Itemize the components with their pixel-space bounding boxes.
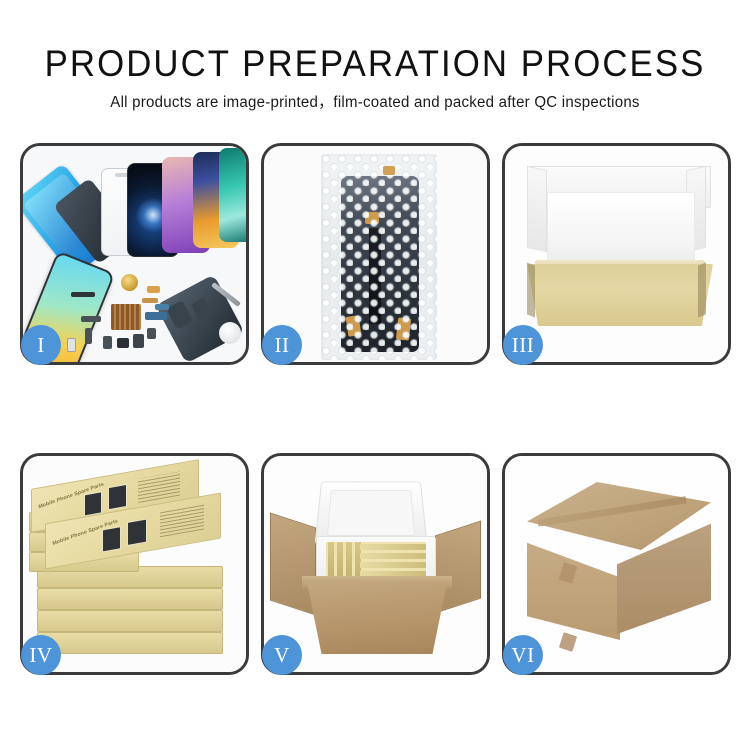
step-badge-5: V: [262, 635, 302, 675]
box-side-3: [37, 588, 223, 610]
part-vibrator: [133, 334, 144, 348]
process-step-5[interactable]: V: [261, 453, 490, 675]
bubble-texture: [321, 154, 437, 360]
chip-array: [111, 304, 141, 330]
yellow-box-h-1: [360, 544, 426, 550]
step-badge-2: II: [262, 325, 302, 365]
process-step-4[interactable]: Mobile Phone Spare Parts Mobile Phone Sp…: [20, 453, 249, 675]
part-ribbon-cable: [145, 312, 167, 320]
part-small-clip: [147, 328, 156, 339]
yellow-box-h-3: [360, 562, 426, 568]
box-right-edge: [698, 262, 706, 317]
step-badge-3: III: [503, 325, 543, 365]
process-step-6[interactable]: VI: [502, 453, 731, 675]
part-connector: [71, 292, 95, 297]
carton-tape-lower: [559, 632, 577, 652]
part-blue-flex: [155, 304, 169, 310]
part-bracket: [85, 328, 92, 344]
page-title: PRODUCT PREPARATION PROCESS: [23, 42, 728, 86]
foam-sheet: [547, 192, 695, 268]
tool-handle: [219, 322, 241, 344]
box-rear-lid-window-2: [108, 484, 127, 510]
box-side-4: [37, 610, 223, 632]
step-badge-1: I: [21, 325, 61, 365]
part-gold-tab: [147, 286, 160, 293]
photo-stacked-retail-boxes: Mobile Phone Spare Parts Mobile Phone Sp…: [23, 456, 246, 672]
box-rear-lid-spec-lines: [138, 472, 180, 503]
photo-carton-with-foam-insert: [264, 456, 487, 672]
phone-green-display: [219, 148, 246, 242]
phone-back-housing: [155, 274, 244, 362]
box-left-edge: [527, 262, 535, 317]
part-flex-cable: [81, 316, 101, 322]
bag-seal-tape: [383, 166, 395, 175]
box-rear-lid-window-1: [84, 491, 102, 516]
part-camera-module: [117, 338, 129, 348]
bubble-wrap-bag: [321, 154, 437, 360]
part-gold-strip: [142, 298, 158, 303]
box-left-flap: [527, 166, 547, 252]
step-badge-4: IV: [21, 635, 61, 675]
process-step-1[interactable]: I: [20, 143, 249, 365]
box-front-lid-window-2: [127, 519, 147, 547]
process-steps-grid: I II: [20, 143, 732, 675]
process-step-2[interactable]: II: [261, 143, 490, 365]
box-front-lid-window-1: [102, 526, 121, 552]
box-side-5: [37, 632, 223, 654]
step-badge-6: VI: [503, 635, 543, 675]
photo-open-kraft-box-with-foam: [505, 146, 728, 362]
page-subtitle: All products are image-printed，film-coat…: [11, 93, 739, 113]
box-front-lid-spec-lines: [160, 504, 204, 537]
carton-left-flap: [270, 513, 316, 616]
process-step-3[interactable]: III: [502, 143, 731, 365]
photo-sealed-shipping-carton: [505, 456, 728, 672]
yellow-box-h-2: [360, 553, 426, 559]
product-preparation-process-page: PRODUCT PREPARATION PROCESS All products…: [0, 0, 750, 750]
photo-bubble-wrapped-screen: [264, 146, 487, 362]
carton-body: [304, 582, 450, 654]
part-sim-tray: [67, 338, 76, 352]
photo-phone-screens-and-spare-parts: [23, 146, 246, 362]
carton-left-face: [527, 532, 620, 640]
header: PRODUCT PREPARATION PROCESS All products…: [0, 0, 750, 113]
speaker-module: [121, 274, 138, 291]
part-button: [103, 336, 112, 349]
box-front-wall: [527, 264, 713, 326]
